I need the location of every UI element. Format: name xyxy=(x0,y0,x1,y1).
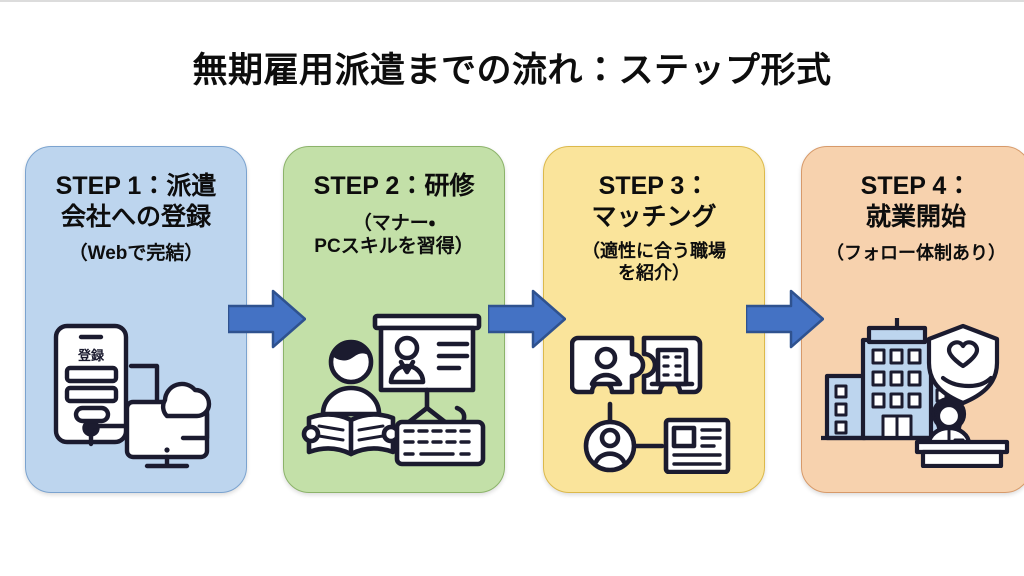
step-3-subtitle-line1: （適性に合う職場 xyxy=(550,240,758,262)
step-card-1[interactable]: STEP 1：派遣 会社への登録 （Webで完結） 登録 xyxy=(25,146,247,493)
step-1-subtitle: （Webで完結） xyxy=(32,242,240,266)
step-3-title-line2: マッチング xyxy=(550,202,758,233)
step-2-title-line1: STEP 2：研修 xyxy=(290,171,498,202)
step-3-subtitle-line2: を紹介） xyxy=(550,262,758,284)
svg-text:登録: 登録 xyxy=(77,348,105,363)
step-2-subtitle-line1: （マナー・ xyxy=(290,212,498,236)
step-3-heading: STEP 3： マッチング （適性に合う職場 を紹介） xyxy=(550,171,758,285)
mobile-registration-cloud-icon: 登録 xyxy=(43,318,229,470)
training-reading-presentation-keyboard-icon xyxy=(299,310,489,470)
top-divider xyxy=(0,0,1024,2)
arrow-right-icon-1 xyxy=(228,288,306,350)
arrow-right-icon-3 xyxy=(746,288,824,350)
step-2-heading: STEP 2：研修 （マナー・ PCスキルを習得） xyxy=(290,171,498,259)
step-4-title-line2: 就業開始 xyxy=(808,202,1024,233)
step-1-artwork: 登録 xyxy=(26,318,246,470)
step-4-heading: STEP 4： 就業開始 （フォロー体制あり） xyxy=(808,171,1024,264)
step-1-title-line2: 会社への登録 xyxy=(32,202,240,233)
infographic-canvas: 無期雇用派遣までの流れ：ステップ形式 STEP 1：派遣 会社への登録 （Web… xyxy=(0,0,1024,576)
step-2-artwork xyxy=(284,310,504,470)
puzzle-matching-profile-icon xyxy=(570,328,738,474)
step-1-heading: STEP 1：派遣 会社への登録 （Webで完結） xyxy=(32,171,240,266)
step-4-subtitle: （フォロー体制あり） xyxy=(808,242,1024,264)
step-card-2[interactable]: STEP 2：研修 （マナー・ PCスキルを習得） xyxy=(283,146,505,493)
step-3-artwork xyxy=(544,328,764,474)
office-building-support-reception-icon xyxy=(821,318,1011,468)
step-1-title-line1: STEP 1：派遣 xyxy=(32,171,240,202)
step-4-artwork xyxy=(802,318,1024,468)
step-4-title-line1: STEP 4： xyxy=(808,171,1024,202)
arrow-right-icon-2 xyxy=(488,288,566,350)
step-2-subtitle-line2: PCスキルを習得） xyxy=(290,235,498,259)
step-card-3[interactable]: STEP 3： マッチング （適性に合う職場 を紹介） xyxy=(543,146,765,493)
step-3-title-line1: STEP 3： xyxy=(550,171,758,202)
step-card-4[interactable]: STEP 4： 就業開始 （フォロー体制あり） xyxy=(801,146,1024,493)
page-title: 無期雇用派遣までの流れ：ステップ形式 xyxy=(0,42,1024,93)
